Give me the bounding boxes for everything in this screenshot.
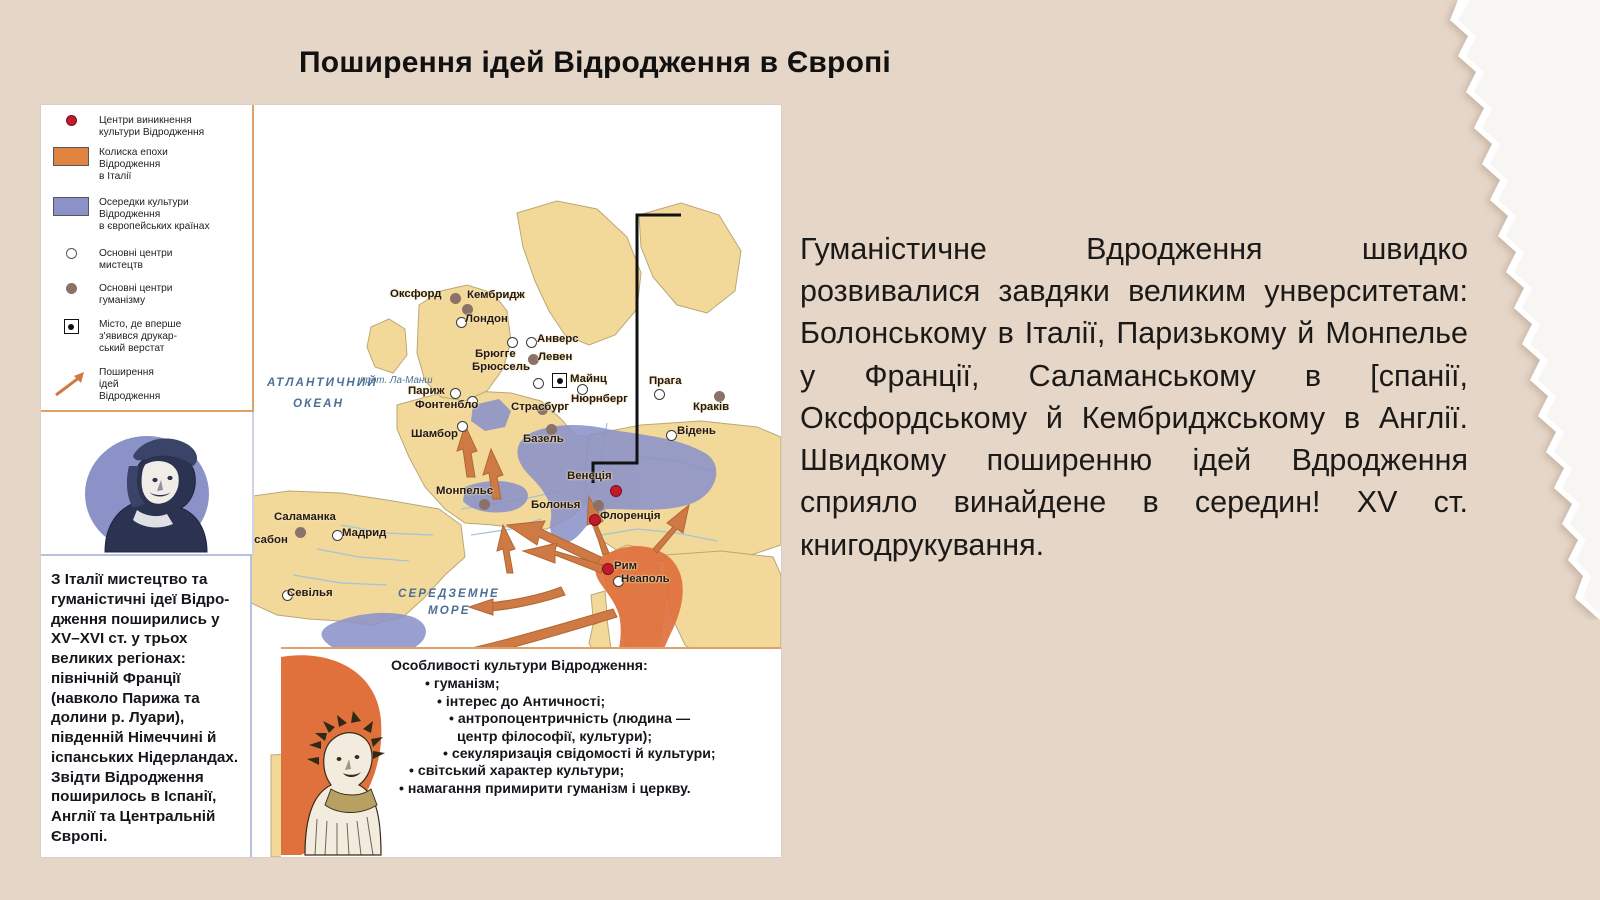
legend-label-5: Місто, де вперше з'явився друкар- ський … [99, 319, 181, 355]
features-item-0: • гуманізм; [391, 675, 775, 692]
marker-paryzh [450, 388, 461, 399]
legend-item-art-centres: Основні центри мистецтв [51, 248, 246, 272]
marker-viden [666, 430, 677, 441]
map-figure: АТЛАНТИЧНИЙ ОКЕАН СЕРЕДЗЕМНЕ МОРЕ прот. … [40, 104, 782, 858]
features-item-3: центр філософії, культури); [391, 728, 775, 745]
marker-anvers [526, 337, 537, 348]
city-label-neapol: Неаполь [621, 573, 670, 585]
legend-label-3: Основні центри мистецтв [99, 248, 172, 272]
sea-label-mediterranean-2: МОРЕ [428, 604, 471, 617]
city-label-viden: Відень [677, 425, 716, 437]
city-label-praha: Прага [649, 375, 682, 387]
legend-label-4: Основні центри гуманізму [99, 283, 172, 307]
city-label-krakiv: Краків [693, 401, 729, 413]
page-title: Поширення ідей Відродження в Європі [0, 46, 1190, 80]
sea-label-atlantic-2: ОКЕАН [293, 397, 344, 410]
city-label-florentsiya: Флоренція [600, 510, 660, 522]
red-dot-icon [51, 115, 91, 126]
city-label-leven: Левен [538, 351, 572, 363]
marker-bryussel [533, 378, 544, 389]
map-note-left: З Італії мистецтво та гуманістичні ідеї … [41, 554, 252, 857]
legend-label-2: Осередки культури Відродження в європейс… [99, 197, 210, 233]
city-label-mayntz: Майнц [570, 373, 607, 385]
city-label-madryd: Мадрид [342, 527, 386, 539]
city-label-monpelye: Монпельє [436, 485, 493, 497]
marker-rym [602, 563, 614, 575]
features-item-6: • намагання примирити гуманізм і церкву. [391, 780, 775, 797]
marker-mayntz [552, 373, 567, 388]
city-label-anvers: Анверс [537, 333, 579, 345]
features-item-5: • світський характер культури; [391, 762, 775, 779]
features-list: Особливості культури Відродження: • гума… [391, 657, 775, 797]
marker-praha [654, 389, 665, 400]
printing-press-icon [51, 319, 91, 334]
legend-label-6: Поширення ідей Відродження [99, 367, 160, 403]
city-label-shambor: Шамбор [411, 428, 458, 440]
hollow-dot-icon [51, 248, 91, 259]
map-legend: Центри виникнення культури Відродження К… [41, 105, 254, 412]
erasmus-portrait-inset [41, 412, 254, 554]
city-label-paryzh: Париж [408, 385, 445, 397]
dante-portrait-inset [281, 649, 387, 857]
orange-swatch-icon [51, 147, 91, 166]
city-label-bazel: Базель [523, 433, 564, 445]
city-label-kembrydzh: Кембридж [467, 289, 525, 301]
city-label-london: Лондон [465, 313, 508, 325]
features-item-4: • секуляризація свідомості й культури; [391, 745, 775, 762]
features-heading: Особливості культури Відродження: [391, 657, 775, 674]
legend-item-centres-origin: Центри виникнення культури Відродження [51, 115, 246, 139]
legend-item-spread-arrow: Поширення ідей Відродження [51, 367, 246, 403]
city-label-nyurnberg: Нюрнберг [571, 393, 628, 405]
article-paragraph: Гуманістичне Вдродження швидко розвивали… [800, 228, 1468, 566]
erasmus-portrait [41, 412, 252, 554]
city-label-oksford: Оксфорд [390, 288, 441, 300]
legend-label-0: Центри виникнення культури Відродження [99, 115, 204, 139]
sea-label-mediterranean: СЕРЕДЗЕМНЕ [398, 587, 500, 600]
city-label-sevilya: Севілья [287, 587, 333, 599]
city-label-bolonya: Болонья [531, 499, 580, 511]
city-label-salamanka: Саламанка [274, 511, 336, 523]
city-label-bryussel: Брюссель [472, 361, 530, 373]
city-label-bryugge: Брюгге [475, 348, 516, 360]
city-label-strasburg: Страсбург [511, 401, 569, 413]
marker-shambor [457, 421, 468, 432]
city-label-rym: Рим [614, 560, 637, 572]
legend-item-printing-press: Місто, де вперше з'явився друкар- ський … [51, 319, 246, 355]
dante-portrait [281, 649, 387, 857]
marker-venetsiya [610, 485, 622, 497]
features-box: Особливості культури Відродження: • гума… [281, 647, 781, 857]
marker-salamanka [295, 527, 306, 538]
marker-oksford [450, 293, 461, 304]
features-item-1: • інтерес до Античності; [391, 693, 775, 710]
features-item-2: • антропоцентричність (людина — [391, 710, 775, 727]
brown-dot-icon [51, 283, 91, 294]
city-label-venetsiya: Венеція [567, 470, 612, 482]
map-note-left-text: З Італії мистецтво та гуманістичні ідеї … [51, 570, 242, 847]
marker-monpelye [479, 499, 490, 510]
legend-label-1: Колиска епохи Відродження в Італії [99, 147, 168, 183]
legend-item-italy-cradle: Колиска епохи Відродження в Італії [51, 147, 246, 183]
blue-swatch-icon [51, 197, 91, 216]
legend-item-european-centres: Осередки культури Відродження в європейс… [51, 197, 246, 233]
marker-bryugge [507, 337, 518, 348]
city-label-fontenblo: Фонтенбло [415, 399, 478, 411]
legend-item-humanism-centres: Основні центри гуманізму [51, 283, 246, 307]
orange-arrow-icon [51, 367, 91, 397]
